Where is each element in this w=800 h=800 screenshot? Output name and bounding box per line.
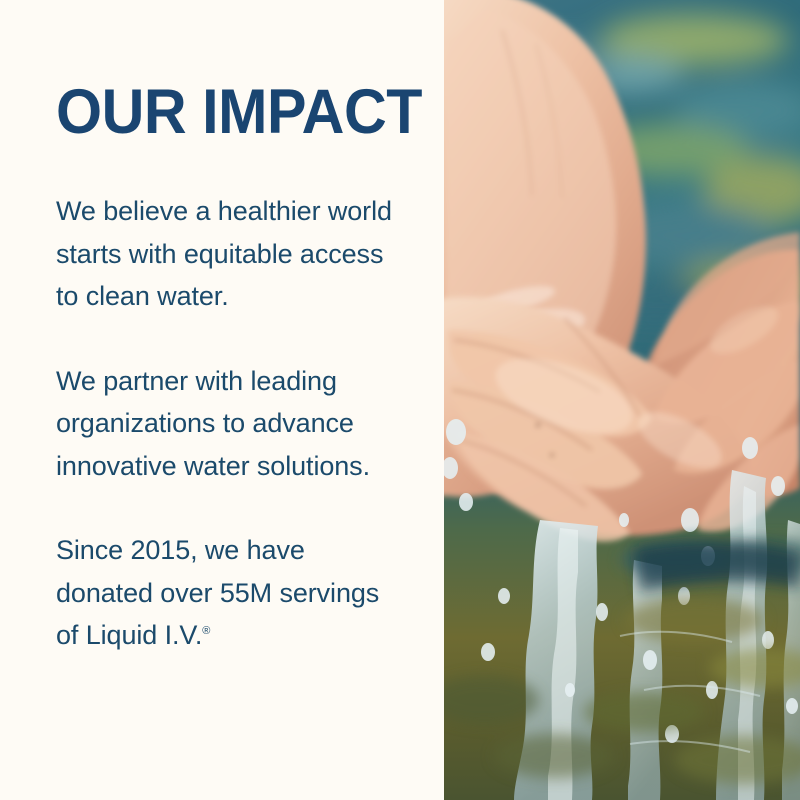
page-title: OUR IMPACT <box>56 79 422 145</box>
paragraph-donations-text: Since 2015, we have donated over 55M ser… <box>56 535 379 650</box>
body-copy: We believe a healthier world starts with… <box>56 190 408 657</box>
paragraph-partnerships: We partner with leading organizations to… <box>56 360 408 488</box>
registered-trademark-symbol: ® <box>202 625 210 637</box>
hands-cupping-water-photo <box>444 0 800 800</box>
impact-panel: OUR IMPACT We believe a healthier world … <box>0 0 800 800</box>
text-panel: OUR IMPACT We believe a healthier world … <box>0 0 444 800</box>
paragraph-mission: We believe a healthier world starts with… <box>56 190 408 318</box>
paragraph-donations: Since 2015, we have donated over 55M ser… <box>56 529 408 657</box>
water-hands-illustration <box>444 0 800 800</box>
